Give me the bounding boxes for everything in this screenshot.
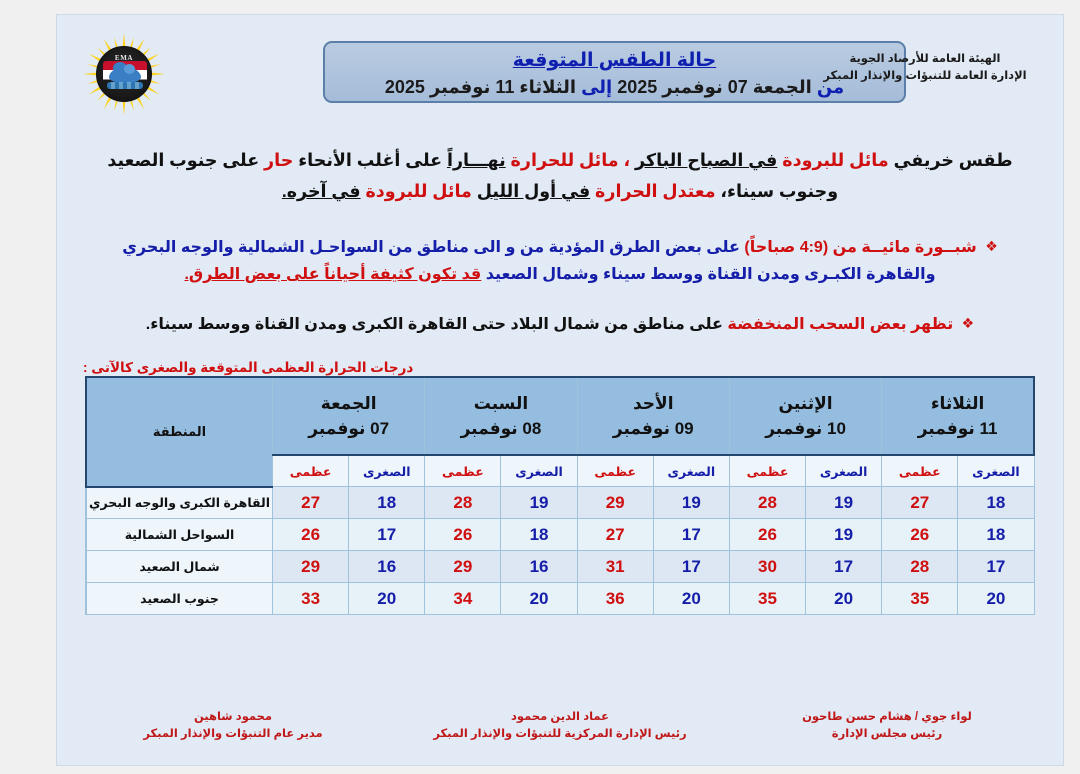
temp-cell: 20	[349, 583, 425, 615]
temp-cell: 36	[577, 583, 653, 615]
diamond-bullet-icon: ❖	[962, 315, 975, 331]
temp-cell: 17	[653, 551, 729, 583]
temp-cell: 20	[653, 583, 729, 615]
day-header-saturday: السبت 08 نوفمبر	[425, 377, 577, 455]
region-column-header: المنطقة	[86, 377, 273, 487]
temp-cell: 27	[882, 487, 958, 519]
summary-part-2: مائل للبرودة	[782, 150, 888, 170]
subheader-max: عظمى	[882, 455, 958, 487]
day-date: 10 نوفمبر	[731, 416, 880, 441]
organization-line-1: الهيئة العامة للأرصاد الجوية	[805, 51, 1045, 68]
temperature-table: الثلاثاء 11 نوفمبر الإثنين 10 نوفمبر الأ…	[85, 376, 1035, 615]
signature-center-name: عماد الدين محمود	[410, 709, 710, 726]
temp-cell: 29	[577, 487, 653, 519]
wave-icon	[107, 82, 143, 89]
bullet-1-part-1: شبــورة مائيــة من (4:9 صباحاً)	[744, 239, 976, 256]
subheader-min: الصغرى	[349, 455, 425, 487]
summary-part-1: طقس خريفي	[894, 150, 1013, 170]
day-date: 07 نوفمبر	[274, 416, 423, 441]
signature-left-name: لواء جوي / هشام حسن طاحون	[737, 709, 1037, 726]
temp-cell: 28	[882, 551, 958, 583]
temp-cell: 31	[577, 551, 653, 583]
day-date: 11 نوفمبر	[883, 416, 1032, 441]
temp-cell: 33	[273, 583, 349, 615]
temp-cell: 16	[501, 551, 577, 583]
temp-cell: 18	[958, 487, 1034, 519]
ema-logo-icon: EMA	[83, 33, 165, 115]
temp-cell: 18	[958, 519, 1034, 551]
summary-part-12: في آخره.	[282, 181, 361, 201]
day-name: الثلاثاء	[883, 391, 1032, 416]
signature-left: لواء جوي / هشام حسن طاحون رئيس مجلس الإد…	[737, 709, 1037, 743]
signature-right: محمود شاهين مدير عام التنبؤات والإنذار ا…	[83, 709, 383, 743]
emblem-disc: EMA	[96, 46, 152, 102]
cloud-icon	[109, 67, 141, 83]
temp-cell: 20	[958, 583, 1034, 615]
temp-cell: 19	[806, 487, 882, 519]
day-date: 09 نوفمبر	[579, 416, 728, 441]
temp-cell: 20	[501, 583, 577, 615]
temp-cell: 27	[577, 519, 653, 551]
list-item: ❖ تظهر بعض السحب المنخفضة على مناطق من ش…	[87, 310, 1033, 338]
temp-cell: 26	[425, 519, 501, 551]
forecast-document: EMA حالة الطقس المتوقعة من الجمعة 07 نوف…	[56, 14, 1064, 766]
organization-name: الهيئة العامة للأرصاد الجوية الإدارة الع…	[805, 51, 1045, 85]
diamond-bullet-icon: ❖	[985, 238, 998, 254]
bullet-1-part-3: قد تكون كثيفة أحياناً على بعض الطرق.	[184, 266, 481, 283]
list-item: ❖ شبــورة مائيــة من (4:9 صباحاً) على بع…	[87, 233, 1033, 288]
day-name: الأحد	[579, 391, 728, 416]
day-name: السبت	[426, 391, 575, 416]
table-caption-text: درجات الحرارة العظمى المتوقعة والصغرى كا…	[83, 360, 413, 376]
summary-part-4: ، مائل للحرارة	[511, 150, 631, 170]
document-header: EMA حالة الطقس المتوقعة من الجمعة 07 نوف…	[57, 15, 1063, 127]
bullet-2-part-1: تظهر بعض السحب المنخفضة	[727, 316, 953, 333]
summary-part-3: في الصباح الباكر	[635, 150, 777, 170]
temp-cell: 17	[349, 519, 425, 551]
signature-right-name: محمود شاهين	[83, 709, 383, 726]
day-name: الجمعة	[274, 391, 423, 416]
subheader-max: عظمى	[273, 455, 349, 487]
day-name: الإثنين	[731, 391, 880, 416]
day-date: 08 نوفمبر	[426, 416, 575, 441]
subheader-max: عظمى	[577, 455, 653, 487]
temp-cell: 26	[882, 519, 958, 551]
signature-center: عماد الدين محمود رئيس الإدارة المركزية ل…	[410, 709, 710, 743]
temp-cell: 19	[653, 487, 729, 519]
subheader-max: عظمى	[425, 455, 501, 487]
temp-cell: 18	[349, 487, 425, 519]
temp-cell: 30	[729, 551, 805, 583]
summary-part-5: نهـــاراً	[447, 150, 506, 170]
subheader-min: الصغرى	[958, 455, 1034, 487]
bullet-2-part-2: على مناطق من شمال البلاد حتى القاهرة الك…	[146, 316, 723, 333]
temp-cell: 20	[806, 583, 882, 615]
temp-cell: 19	[501, 487, 577, 519]
date-range-start: الجمعة 07 نوفمبر 2025	[617, 77, 812, 97]
organization-line-2: الإدارة العامة للتنبؤات والإنذار المبكر	[805, 68, 1045, 85]
table-row: 20 35 20 35 20 36 20 34 20 33 جنوب الصعي…	[86, 583, 1034, 615]
day-header-monday: الإثنين 10 نوفمبر	[729, 377, 881, 455]
day-header-friday: الجمعة 07 نوفمبر	[273, 377, 425, 455]
region-name: شمال الصعيد	[86, 551, 273, 583]
signature-center-title: رئيس الإدارة المركزية للتنبؤات والإنذار …	[410, 726, 710, 743]
temp-cell: 28	[425, 487, 501, 519]
subheader-min: الصغرى	[806, 455, 882, 487]
region-name: السواحل الشمالية	[86, 519, 273, 551]
temp-cell: 26	[273, 519, 349, 551]
temp-cell: 29	[425, 551, 501, 583]
warning-list: ❖ شبــورة مائيــة من (4:9 صباحاً) على بع…	[87, 233, 1033, 338]
subheader-max: عظمى	[729, 455, 805, 487]
signature-footer: لواء جوي / هشام حسن طاحون رئيس مجلس الإد…	[57, 709, 1063, 743]
date-range-end: الثلاثاء 11 نوفمبر 2025	[385, 77, 576, 97]
summary-part-7: حار	[264, 150, 293, 170]
summary-part-11: مائل للبرودة	[365, 181, 471, 201]
temp-cell: 17	[653, 519, 729, 551]
day-header-tuesday: الثلاثاء 11 نوفمبر	[882, 377, 1034, 455]
signature-left-title: رئيس مجلس الإدارة	[737, 726, 1037, 743]
temp-cell: 35	[729, 583, 805, 615]
temp-cell: 18	[501, 519, 577, 551]
region-name: جنوب الصعيد	[86, 583, 273, 615]
subheader-min: الصغرى	[653, 455, 729, 487]
temp-cell: 19	[806, 519, 882, 551]
region-name: القاهرة الكبرى والوجه البحري	[86, 487, 273, 519]
table-header-days: الثلاثاء 11 نوفمبر الإثنين 10 نوفمبر الأ…	[86, 377, 1034, 455]
date-range-to-keyword: إلى	[581, 77, 612, 97]
weather-summary: طقس خريفي مائل للبرودة في الصباح الباكر …	[91, 145, 1029, 207]
temp-cell: 17	[958, 551, 1034, 583]
temp-cell: 34	[425, 583, 501, 615]
summary-part-10: في أول الليل	[477, 181, 590, 201]
table-row: 17 28 17 30 17 31 16 29 16 29 شمال الصعي…	[86, 551, 1034, 583]
temp-cell: 28	[729, 487, 805, 519]
summary-part-9: معتدل الحرارة	[595, 181, 715, 201]
summary-part-6: على أغلب الأنحاء	[298, 150, 442, 170]
subheader-min: الصغرى	[501, 455, 577, 487]
temp-cell: 29	[273, 551, 349, 583]
temp-cell: 26	[729, 519, 805, 551]
temp-cell: 16	[349, 551, 425, 583]
temp-cell: 35	[882, 583, 958, 615]
table-row: 18 26 19 26 17 27 18 26 17 26 السواحل ال…	[86, 519, 1034, 551]
temp-cell: 17	[806, 551, 882, 583]
day-header-sunday: الأحد 09 نوفمبر	[577, 377, 729, 455]
table-row: 18 27 19 28 19 29 19 28 18 27 القاهرة ال…	[86, 487, 1034, 519]
signature-right-title: مدير عام التنبؤات والإنذار المبكر	[83, 726, 383, 743]
temp-cell: 27	[273, 487, 349, 519]
